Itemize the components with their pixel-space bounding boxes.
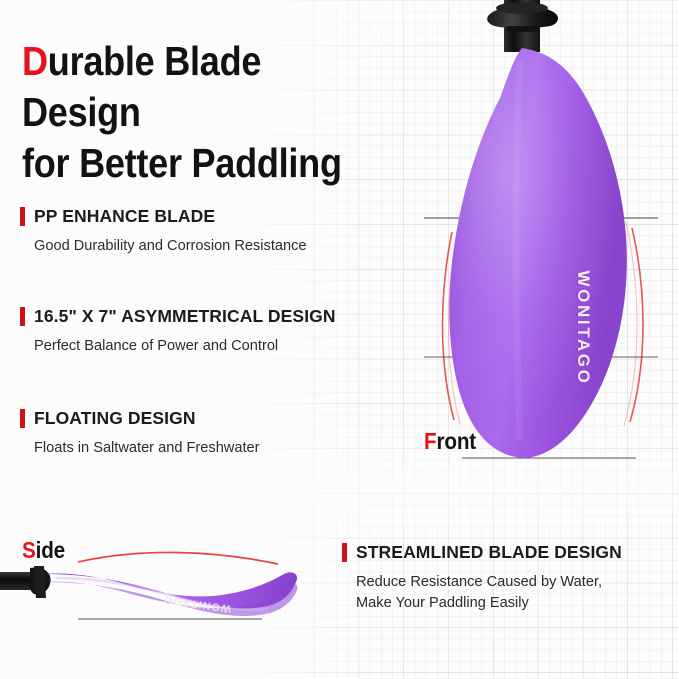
- feature-subtitle: Good Durability and Corrosion Resistance: [34, 236, 420, 257]
- page-title-line-2: for Better Paddling: [22, 138, 374, 189]
- feature-heading-row: FLOATING DESIGN: [20, 408, 420, 429]
- feature-heading-row: PP ENHANCE BLADE: [20, 206, 420, 227]
- page-title-drop-cap: D: [22, 38, 48, 84]
- feature-item-asymmetrical-design: 16.5" X 7" ASYMMETRICAL DESIGN Perfect B…: [20, 306, 420, 357]
- red-bar-marker-icon: [20, 307, 25, 326]
- feature-heading-row: 16.5" X 7" ASYMMETRICAL DESIGN: [20, 306, 420, 327]
- feature-title: PP ENHANCE BLADE: [34, 206, 215, 227]
- front-label-rest: ront: [436, 428, 476, 454]
- red-bar-marker-icon: [342, 543, 347, 562]
- side-view-label: Side: [22, 537, 65, 564]
- feature-title: 16.5" X 7" ASYMMETRICAL DESIGN: [34, 306, 336, 327]
- page-title: Durable Blade Design for Better Paddling: [22, 36, 374, 188]
- red-bar-marker-icon: [20, 207, 25, 226]
- paddle-front-view-illustration: [400, 0, 679, 480]
- brand-text-front: WONITAGO: [573, 271, 593, 386]
- side-label-drop-cap: S: [22, 537, 36, 563]
- feature-title: FLOATING DESIGN: [34, 408, 196, 429]
- feature-subtitle: Floats in Saltwater and Freshwater: [34, 438, 420, 459]
- feature-item-floating-design: FLOATING DESIGN Floats in Saltwater and …: [20, 408, 420, 459]
- feature-subtitle: Reduce Resistance Caused by Water, Make …: [356, 572, 672, 614]
- feature-subtitle-line-2: Make Your Paddling Easily: [356, 593, 672, 614]
- page-title-line-1-rest: urable Blade Design: [22, 38, 261, 135]
- feature-subtitle-line-1: Reduce Resistance Caused by Water,: [356, 572, 672, 593]
- front-view-label: Front: [424, 428, 476, 455]
- product-infographic: Durable Blade Design for Better Paddling…: [0, 0, 679, 679]
- red-bar-marker-icon: [20, 409, 25, 428]
- feature-subtitle: Perfect Balance of Power and Control: [34, 336, 420, 357]
- side-label-rest: ide: [36, 537, 65, 563]
- feature-item-streamlined-blade-design: STREAMLINED BLADE DESIGN Reduce Resistan…: [342, 542, 672, 614]
- front-label-drop-cap: F: [424, 428, 436, 454]
- feature-item-pp-enhance-blade: PP ENHANCE BLADE Good Durability and Cor…: [20, 206, 420, 257]
- feature-heading-row: STREAMLINED BLADE DESIGN: [342, 542, 672, 563]
- page-title-line-1: Durable Blade Design: [22, 36, 374, 138]
- feature-title: STREAMLINED BLADE DESIGN: [356, 542, 622, 563]
